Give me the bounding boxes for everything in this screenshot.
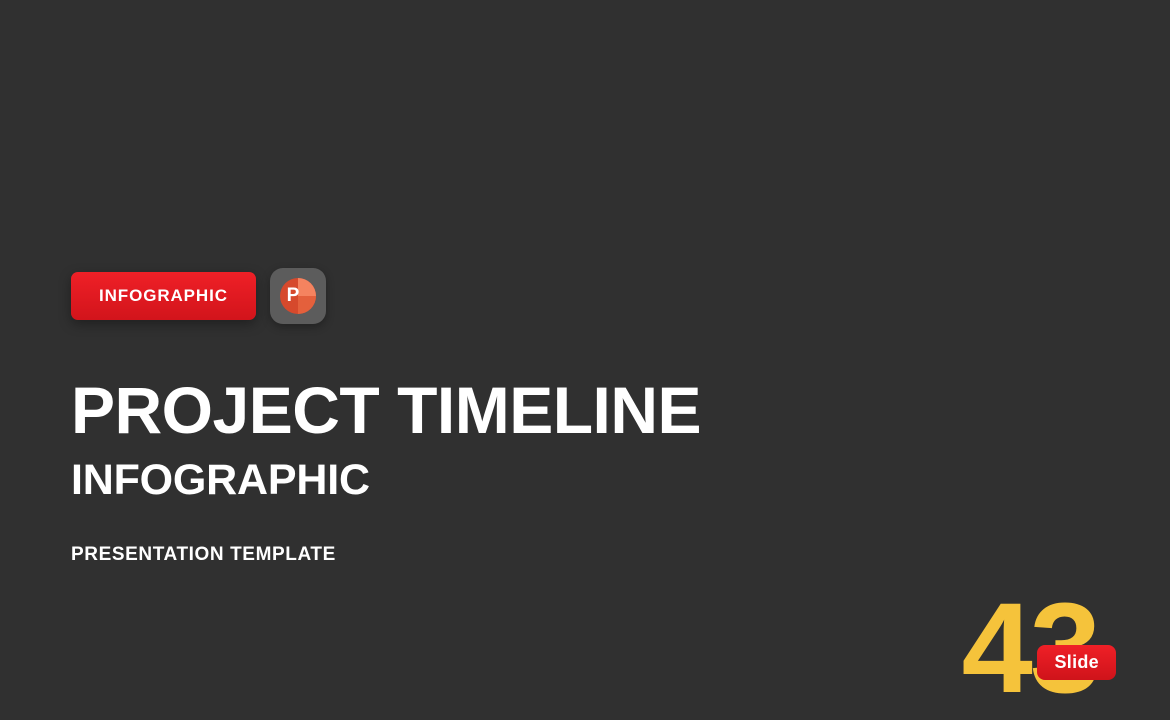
slide-count-badge: Slide — [1037, 645, 1116, 680]
slide-count: 43 Slide — [962, 597, 1098, 702]
poster-canvas: Production Processing — [0, 0, 1170, 720]
powerpoint-letter: P — [287, 285, 300, 307]
hero-content: INFOGRAPHIC P PROJECT TIMELINE INFOGRAPH… — [71, 268, 701, 566]
page-subtitle: INFOGRAPHIC — [71, 459, 701, 502]
powerpoint-glyph: P — [280, 278, 316, 314]
page-title: PROJECT TIMELINE — [71, 377, 701, 443]
page-tagline: PRESENTATION TEMPLATE — [71, 544, 701, 566]
powerpoint-icon[interactable]: P — [270, 268, 326, 324]
badge-row: INFOGRAPHIC P — [71, 268, 701, 324]
infographic-badge[interactable]: INFOGRAPHIC — [71, 272, 256, 320]
